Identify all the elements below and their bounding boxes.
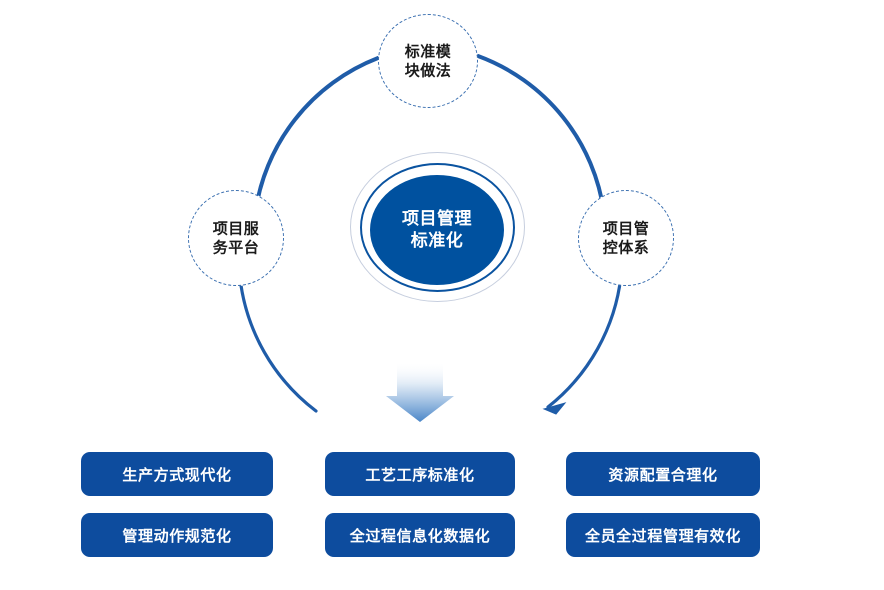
satellite-top-label: 标准模 块做法 bbox=[379, 42, 477, 79]
satellite-right-label: 项目管 控体系 bbox=[579, 219, 673, 256]
satellite-left[interactable]: 项目服 务平台 bbox=[188, 190, 284, 286]
outcome-pill-label: 资源配置合理化 bbox=[608, 464, 717, 485]
outcome-pill-label: 工艺工序标准化 bbox=[365, 464, 474, 485]
center-hub-label: 项目管理 标准化 bbox=[370, 208, 504, 252]
center-hub[interactable]: 项目管理 标准化 bbox=[370, 175, 504, 285]
satellite-right[interactable]: 项目管 控体系 bbox=[578, 190, 674, 286]
outcome-pill-label: 生产方式现代化 bbox=[122, 464, 231, 485]
down-arrow-icon bbox=[386, 363, 454, 422]
arc-arrowhead-icon bbox=[544, 403, 565, 414]
outcome-pill-label: 管理动作规范化 bbox=[122, 525, 231, 546]
arc-left-lower bbox=[240, 278, 316, 411]
outcome-pill-2-1[interactable]: 工艺工序标准化 bbox=[325, 452, 515, 496]
outcome-pill-label: 全员全过程管理有效化 bbox=[585, 525, 741, 546]
diagram-canvas: 项目管理 标准化 标准模 块做法 项目服 务平台 项目管 控体系 生产方式现代化… bbox=[0, 0, 884, 590]
satellite-top[interactable]: 标准模 块做法 bbox=[378, 14, 478, 108]
outcome-pill-3-2[interactable]: 全员全过程管理有效化 bbox=[566, 513, 760, 557]
outcome-pill-2-2[interactable]: 全过程信息化数据化 bbox=[325, 513, 515, 557]
outcome-pill-1-2[interactable]: 管理动作规范化 bbox=[81, 513, 273, 557]
outcome-pill-3-1[interactable]: 资源配置合理化 bbox=[566, 452, 760, 496]
outcome-pill-1-1[interactable]: 生产方式现代化 bbox=[81, 452, 273, 496]
outcome-pill-label: 全过程信息化数据化 bbox=[350, 525, 490, 546]
satellite-left-label: 项目服 务平台 bbox=[189, 219, 283, 256]
arc-right-lower bbox=[548, 276, 621, 407]
